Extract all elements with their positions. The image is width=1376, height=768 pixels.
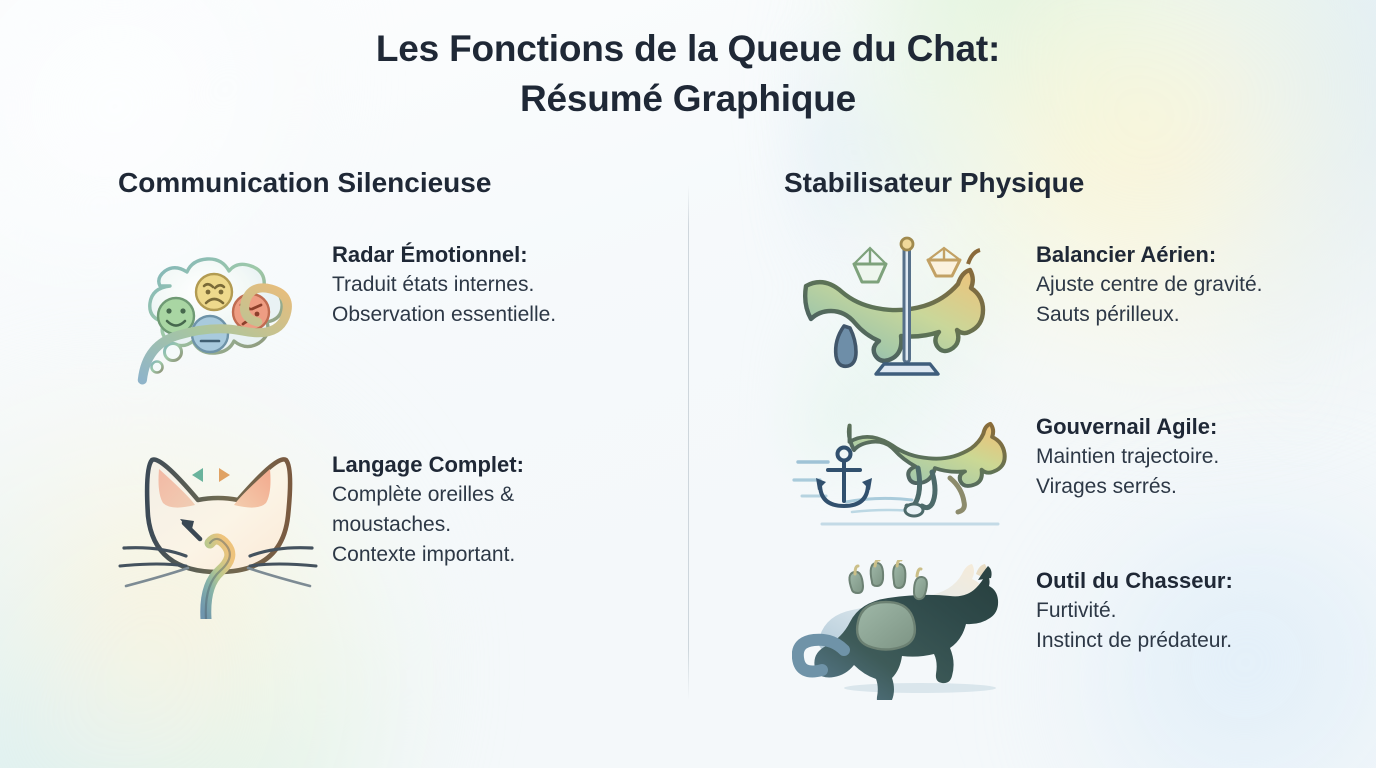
list-item-line: Complète oreilles & (332, 480, 524, 510)
poster-title-line-1: Les Fonctions de la Queue du Chat: (0, 24, 1376, 74)
list-item-title: Radar Émotionnel: (332, 240, 556, 270)
column-heading-communication: Communication Silencieuse (118, 166, 662, 200)
list-item-copy: Balancier Aérien: Ajuste centre de gravi… (1036, 234, 1262, 330)
list-item: Balancier Aérien: Ajuste centre de gravi… (792, 234, 1326, 384)
infographic-poster: Les Fonctions de la Queue du Chat: Résum… (0, 0, 1376, 768)
cat-face-ears-whiskers-tail-icon (118, 444, 318, 619)
list-item-line: Traduit états internes. (332, 270, 556, 300)
leaping-cat-balance-scale-icon (792, 234, 1022, 384)
list-item-line: Furtivité. (1036, 596, 1233, 626)
list-item-title: Gouvernail Agile: (1036, 412, 1219, 442)
thought-bubble-emotions-tail-icon (118, 234, 318, 394)
list-item: Outil du Chasseur: Furtivité. Instinct d… (792, 560, 1326, 700)
list-item-line: Virages serrés. (1036, 472, 1219, 502)
list-item-line: Sauts périlleux. (1036, 300, 1262, 330)
column-heading-stabilisateur: Stabilisateur Physique (784, 166, 1326, 200)
list-item-line: Observation essentielle. (332, 300, 556, 330)
list-item: Gouvernail Agile: Maintien trajectoire. … (792, 406, 1326, 538)
list-item-line: Contexte important. (332, 540, 524, 570)
list-item: Langage Complet: Complète oreilles & mou… (118, 444, 662, 619)
running-cat-anchor-icon (792, 406, 1022, 538)
list-item-line: moustaches. (332, 510, 524, 540)
list-item: Radar Émotionnel: Traduit états internes… (118, 234, 662, 394)
poster-title-line-2: Résumé Graphique (0, 74, 1376, 124)
list-item-copy: Outil du Chasseur: Furtivité. Instinct d… (1036, 560, 1233, 656)
list-item-copy: Radar Émotionnel: Traduit états internes… (332, 234, 556, 330)
column-stabilisateur: Stabilisateur Physique (688, 166, 1376, 722)
stalking-cat-paw-print-icon (792, 560, 1022, 700)
columns-container: Communication Silencieuse (0, 166, 1376, 722)
list-item-copy: Gouvernail Agile: Maintien trajectoire. … (1036, 406, 1219, 502)
column-communication: Communication Silencieuse (0, 166, 688, 722)
list-item-title: Balancier Aérien: (1036, 240, 1262, 270)
list-item-copy: Langage Complet: Complète oreilles & mou… (332, 444, 524, 570)
list-item-title: Outil du Chasseur: (1036, 566, 1233, 596)
list-item-title: Langage Complet: (332, 450, 524, 480)
list-item-line: Ajuste centre de gravité. (1036, 270, 1262, 300)
list-item-line: Instinct de prédateur. (1036, 626, 1233, 656)
poster-header: Les Fonctions de la Queue du Chat: Résum… (0, 24, 1376, 124)
list-item-line: Maintien trajectoire. (1036, 442, 1219, 472)
